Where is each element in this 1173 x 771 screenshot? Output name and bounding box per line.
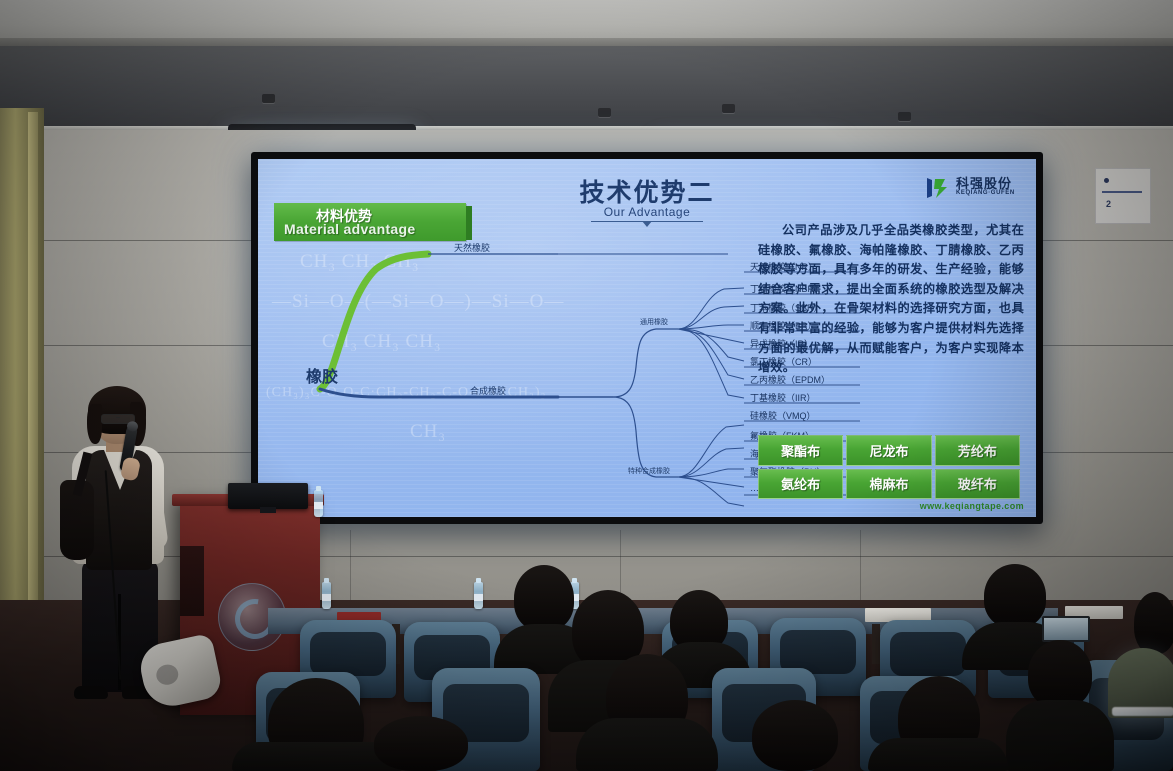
fabric-cell: 聚酯布 bbox=[758, 435, 843, 466]
wall-sign-rule bbox=[1102, 191, 1142, 193]
water-bottle bbox=[322, 582, 331, 609]
table-leg bbox=[872, 624, 880, 664]
audience-shoulders bbox=[1006, 700, 1114, 771]
ceiling-sensor-icon bbox=[598, 108, 611, 117]
wall-sign: 2 bbox=[1095, 168, 1151, 224]
water-bottle bbox=[474, 582, 483, 609]
mindmap-root-label: 橡胶 bbox=[306, 363, 338, 387]
mindmap-group-general: 通用橡胶 bbox=[640, 317, 668, 327]
wall-sign-dot-icon bbox=[1104, 178, 1109, 183]
audience-head bbox=[1028, 640, 1092, 708]
audience-laptop bbox=[1042, 616, 1090, 642]
mindmap-leaf: 丁基橡胶（IIR） bbox=[750, 391, 816, 404]
fabric-cell: 芳纶布 bbox=[935, 435, 1020, 466]
audience-head bbox=[1134, 592, 1173, 654]
fabric-cell: 尼龙布 bbox=[846, 435, 931, 466]
fabric-cell: 氨纶布 bbox=[758, 469, 843, 500]
door-frame-inner bbox=[28, 112, 38, 624]
presenter-hair-left bbox=[87, 404, 102, 444]
fabric-cell: 棉麻布 bbox=[846, 469, 931, 500]
mindmap-group-special: 特种合成橡胶 bbox=[628, 466, 670, 476]
audience-head bbox=[984, 564, 1046, 628]
mindmap-branch-synthetic: 合成橡胶 bbox=[470, 384, 506, 397]
ceiling-sensor-icon bbox=[262, 94, 275, 103]
slide-paragraph: 公司产品涉及几乎全品类橡胶类型，尤其在硅橡胶、氟橡胶、海帕隆橡胶、丁腈橡胶、乙丙… bbox=[758, 221, 1024, 378]
water-bottle bbox=[314, 490, 323, 517]
fabric-cell: 玻纤布 bbox=[935, 469, 1020, 500]
podium-monitor-stand bbox=[260, 507, 276, 513]
ceiling bbox=[0, 0, 1173, 42]
slide: CH₃ CH₃ CH₃ —Si—O—(—Si—O—)—Si—O— CH₃ CH₃… bbox=[258, 159, 1036, 517]
audience-head bbox=[374, 716, 468, 771]
audience-head bbox=[752, 700, 838, 771]
fabric-grid: 聚酯布 尼龙布 芳纶布 氨纶布 棉麻布 玻纤布 bbox=[758, 435, 1020, 499]
lecture-hall-photo: 2 CH₃ CH₃ CH₃ —Si—O—(—Si—O—)—Si—O— CH₃ C… bbox=[0, 0, 1173, 771]
presentation-screen: CH₃ CH₃ CH₃ —Si—O—(—Si—O—)—Si—O— CH₃ CH₃… bbox=[251, 152, 1043, 524]
presenter-shoe bbox=[74, 686, 108, 699]
audience-head bbox=[514, 565, 574, 631]
podium-monitor bbox=[228, 483, 308, 509]
mindmap-branch-natural: 天然橡胶 bbox=[454, 241, 490, 254]
audience-shoulders bbox=[868, 738, 1008, 771]
audience-shoulders bbox=[1108, 648, 1173, 718]
ceiling-sensor-icon bbox=[722, 104, 735, 113]
slide-website: www.keqiangtape.com bbox=[920, 501, 1024, 511]
ceiling-soffit bbox=[0, 46, 1173, 130]
ceiling-sensor-icon bbox=[898, 112, 911, 121]
wall-sign-text: 2 bbox=[1106, 199, 1111, 209]
mindmap-leaf: 硅橡胶（VMQ） bbox=[750, 409, 816, 422]
audience-shoulders bbox=[576, 718, 718, 771]
